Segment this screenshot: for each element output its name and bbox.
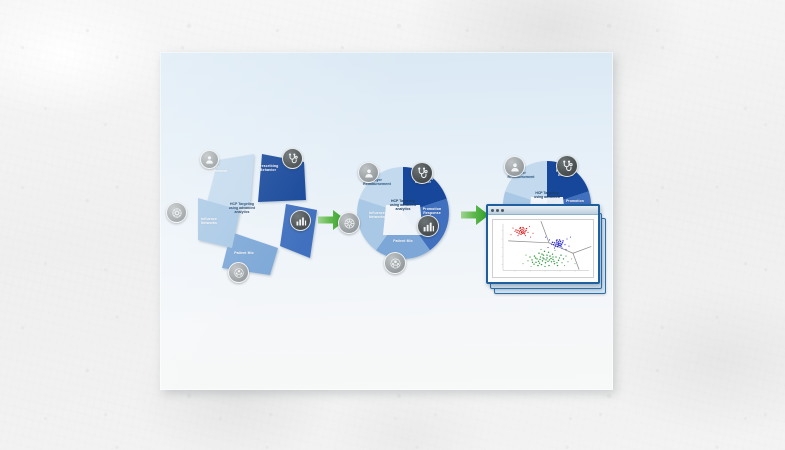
output-window[interactable] xyxy=(486,204,600,284)
people-group-glyph-s2 xyxy=(389,257,402,270)
bar-chart-glyph xyxy=(295,215,307,227)
stethoscope-icon-s1[interactable] xyxy=(282,148,303,169)
user-person-icon-s1[interactable] xyxy=(200,150,219,169)
stethoscope-glyph-s2 xyxy=(416,167,429,180)
output-window-body xyxy=(488,215,598,282)
bar-chart-icon-s2[interactable] xyxy=(417,215,439,237)
stethoscope-icon-s3[interactable] xyxy=(556,155,578,177)
network-node-icon-s1[interactable] xyxy=(166,202,187,223)
cluster-scatter-plot[interactable] xyxy=(492,219,594,278)
bar-chart-glyph-s2 xyxy=(422,220,435,233)
series-cluster-a xyxy=(510,226,533,237)
user-person-glyph-s2 xyxy=(363,167,375,179)
people-group-glyph xyxy=(233,267,245,279)
user-person-glyph-s3 xyxy=(509,161,521,173)
screenshot-root: Payer Reimbursement Prescribing Behavior… xyxy=(0,0,785,450)
network-node-glyph-s2 xyxy=(343,217,356,230)
window-dot-2[interactable] xyxy=(496,209,499,212)
stethoscope-glyph xyxy=(287,153,299,165)
window-dot-1[interactable] xyxy=(491,209,494,212)
stethoscope-glyph-s3 xyxy=(561,160,574,173)
arrow-2-shape xyxy=(461,205,489,225)
people-group-icon-s1[interactable] xyxy=(228,262,249,283)
people-group-icon-s2[interactable] xyxy=(384,252,406,274)
network-node-glyph xyxy=(171,207,183,219)
presentation-slide[interactable]: Payer Reimbursement Prescribing Behavior… xyxy=(160,52,613,390)
cluster-boundary-lines xyxy=(509,221,592,269)
network-node-icon-s2[interactable] xyxy=(338,212,360,234)
user-person-glyph xyxy=(204,154,215,165)
series-cluster-c xyxy=(523,249,576,267)
stethoscope-icon-s2[interactable] xyxy=(411,162,433,184)
window-dot-3[interactable] xyxy=(501,209,504,212)
output-window-titlebar[interactable] xyxy=(488,206,598,215)
bar-chart-icon-s1[interactable] xyxy=(290,210,311,231)
output-window-stack[interactable] xyxy=(486,204,606,294)
user-person-icon-s3[interactable] xyxy=(504,156,525,177)
user-person-icon-s2[interactable] xyxy=(358,162,379,183)
series-cluster-b xyxy=(545,237,571,250)
plot-axes xyxy=(503,224,589,271)
stage-1-exploded-wheel[interactable] xyxy=(174,144,334,279)
